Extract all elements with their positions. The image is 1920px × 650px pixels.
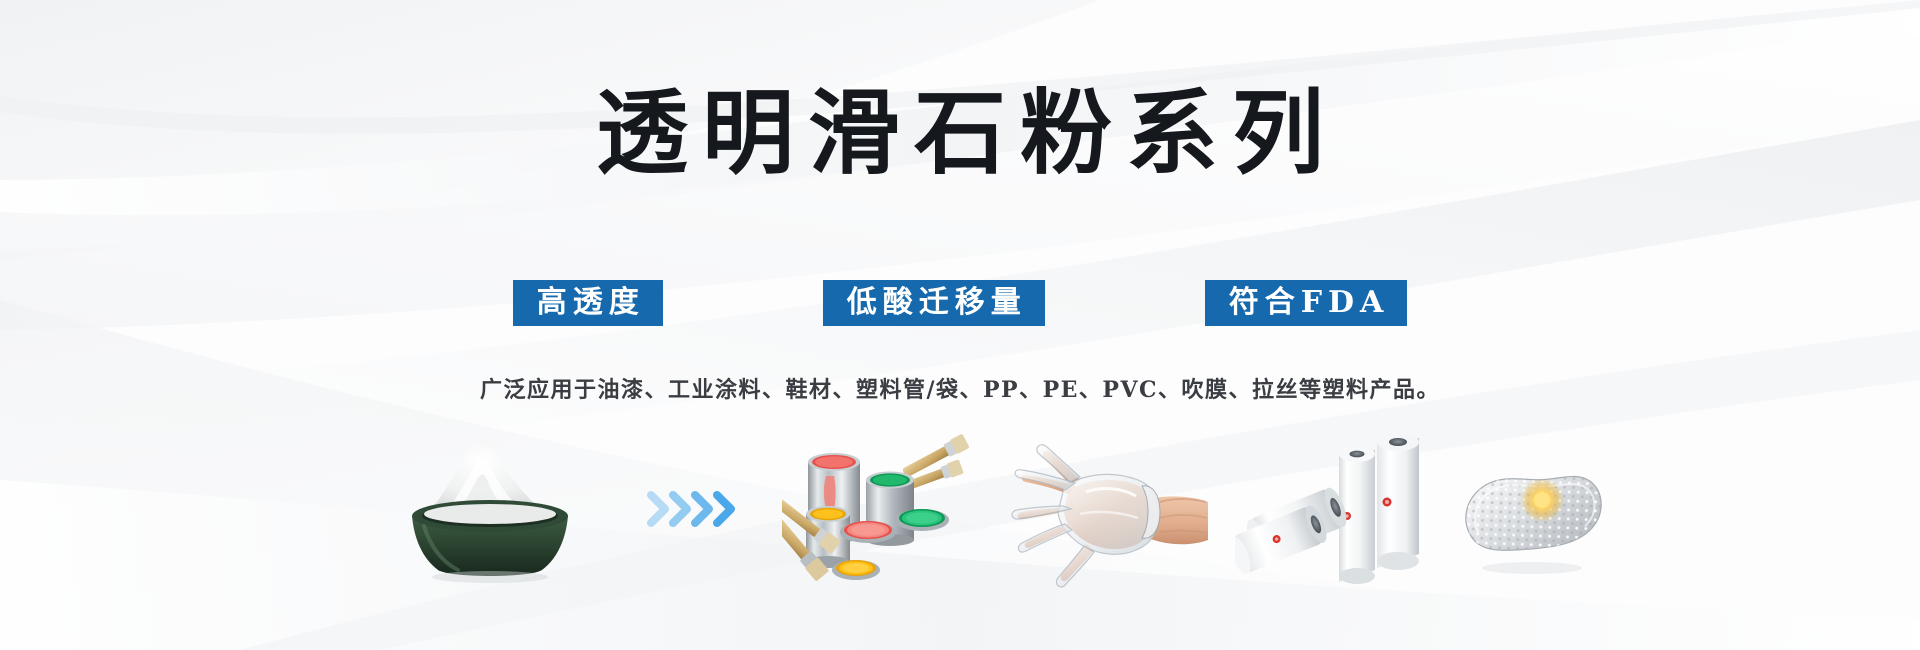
banner-title: 透明滑石粉系列: [0, 84, 1920, 183]
shoe-sole-image: [1450, 442, 1610, 590]
banner-subtitle: 广泛应用于油漆、工业涂料、鞋材、塑料管/袋、PP、PE、PVC、吹膜、拉丝等塑料…: [0, 372, 1920, 404]
process-arrows-icon: [645, 484, 755, 534]
plastic-glove-hand-image: [1010, 440, 1210, 590]
badge-high-transparency: 高透度: [513, 280, 663, 326]
application-image-strip: [390, 428, 1530, 608]
feature-badge-group: 高透度 低酸迁移量 符合FDA: [0, 280, 1920, 326]
badge-low-acid-migration: 低酸迁移量: [823, 280, 1045, 326]
talc-powder-bowl-image: [390, 434, 590, 584]
plastic-film-rolls-image: [1235, 428, 1425, 600]
paint-cans-image: [782, 428, 972, 598]
product-banner: 透明滑石粉系列 高透度 低酸迁移量 符合FDA 广泛应用于油漆、工业涂料、鞋材、…: [0, 0, 1920, 650]
badge-fda-compliant: 符合FDA: [1205, 280, 1408, 326]
